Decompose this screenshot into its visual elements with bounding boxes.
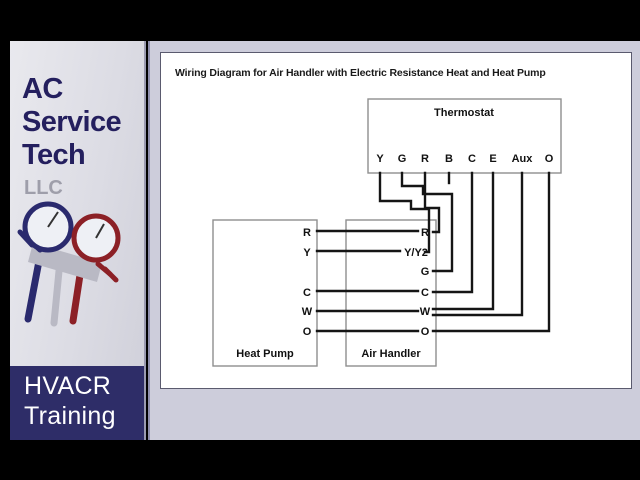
heat-pump-terminal-r: R (303, 227, 311, 239)
diagram-frame: Wiring Diagram for Air Handler with Elec… (148, 41, 640, 440)
company-name-line3: Tech (22, 139, 146, 172)
diagram-panel: Wiring Diagram for Air Handler with Elec… (160, 52, 632, 389)
thermostat-terminal-e: E (489, 153, 496, 165)
heat-pump-terminal-w: W (302, 306, 313, 318)
footer-block: HVACR Training (10, 366, 146, 440)
heat-pump-terminal-y: Y (303, 247, 311, 259)
thermostat-terminal-b: B (445, 153, 453, 165)
company-suffix: LLC (24, 177, 63, 200)
screenshot-root: AC Service Tech LLC (0, 0, 640, 480)
thermostat-label: Thermostat (434, 107, 494, 119)
heat-pump-terminal-o: O (303, 326, 312, 338)
thermostat-terminal-g: G (398, 153, 407, 165)
wire-thermostat-o-to-air-handler-o (433, 173, 549, 331)
air-handler-terminal-c: C (421, 287, 429, 299)
thermostat-terminal-o: O (545, 153, 554, 165)
company-name-line1: AC (22, 73, 146, 106)
company-name-line2: Service (22, 106, 146, 139)
manifold-gauge-icon (10, 201, 146, 351)
air-handler-terminal-g: G (421, 266, 430, 278)
footer-line2: Training (24, 402, 116, 431)
air-handler-label: Air Handler (361, 348, 421, 360)
thermostat-terminal-r: R (421, 153, 429, 165)
thermostat-terminal-c: C (468, 153, 476, 165)
air-handler-terminal-w: W (420, 306, 431, 318)
footer-line1: HVACR (24, 372, 111, 401)
heat-pump-label: Heat Pump (236, 348, 294, 360)
air-handler-terminal-o: O (421, 326, 430, 338)
panel-divider (144, 41, 146, 440)
thermostat-terminal-aux: Aux (512, 153, 534, 165)
content-band: AC Service Tech LLC (0, 41, 640, 440)
thermostat-terminal-y: Y (376, 153, 384, 165)
heat-pump-box (213, 220, 317, 366)
company-name: AC Service Tech (22, 73, 146, 172)
heat-pump-terminal-c: C (303, 287, 311, 299)
wiring-diagram: Thermostat Heat Pump Air Handler Y G R B… (161, 53, 633, 390)
branding-panel: AC Service Tech LLC (10, 41, 146, 440)
